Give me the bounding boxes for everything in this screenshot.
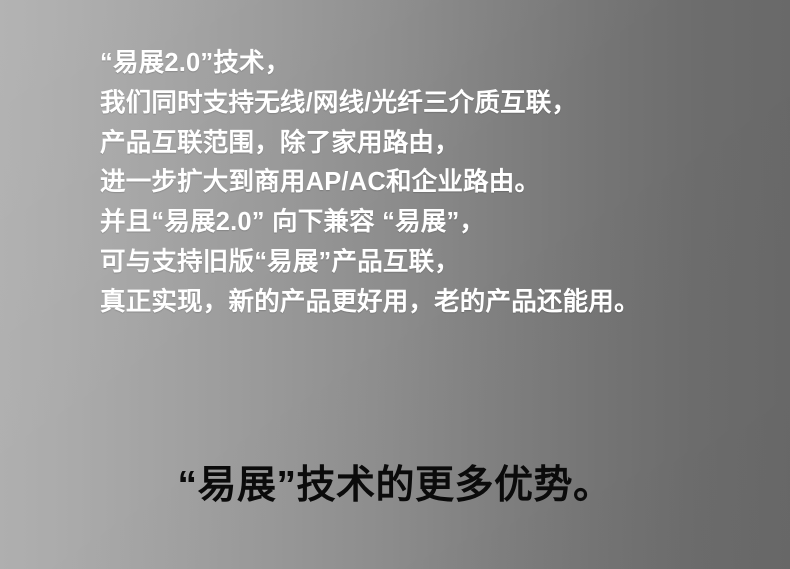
body-line-3: 产品互联范围，除了家用路由， <box>100 124 760 164</box>
body-line-7: 真正实现，新的产品更好用，老的产品还能用。 <box>100 283 760 323</box>
section-headline: “易展”技术的更多优势。 <box>0 458 790 514</box>
body-line-1: “易展2.0”技术， <box>100 44 760 84</box>
body-line-5: 并且“易展2.0” 向下兼容 “易展”， <box>100 203 760 243</box>
body-line-2: 我们同时支持无线/网线/光纤三介质互联， <box>100 84 760 124</box>
body-line-4: 进一步扩大到商用AP/AC和企业路由。 <box>100 163 760 203</box>
body-line-6: 可与支持旧版“易展”产品互联， <box>100 243 760 283</box>
body-text-block: “易展2.0”技术， 我们同时支持无线/网线/光纤三介质互联， 产品互联范围，除… <box>100 44 760 323</box>
slide-canvas: “易展2.0”技术， 我们同时支持无线/网线/光纤三介质互联， 产品互联范围，除… <box>0 0 790 569</box>
